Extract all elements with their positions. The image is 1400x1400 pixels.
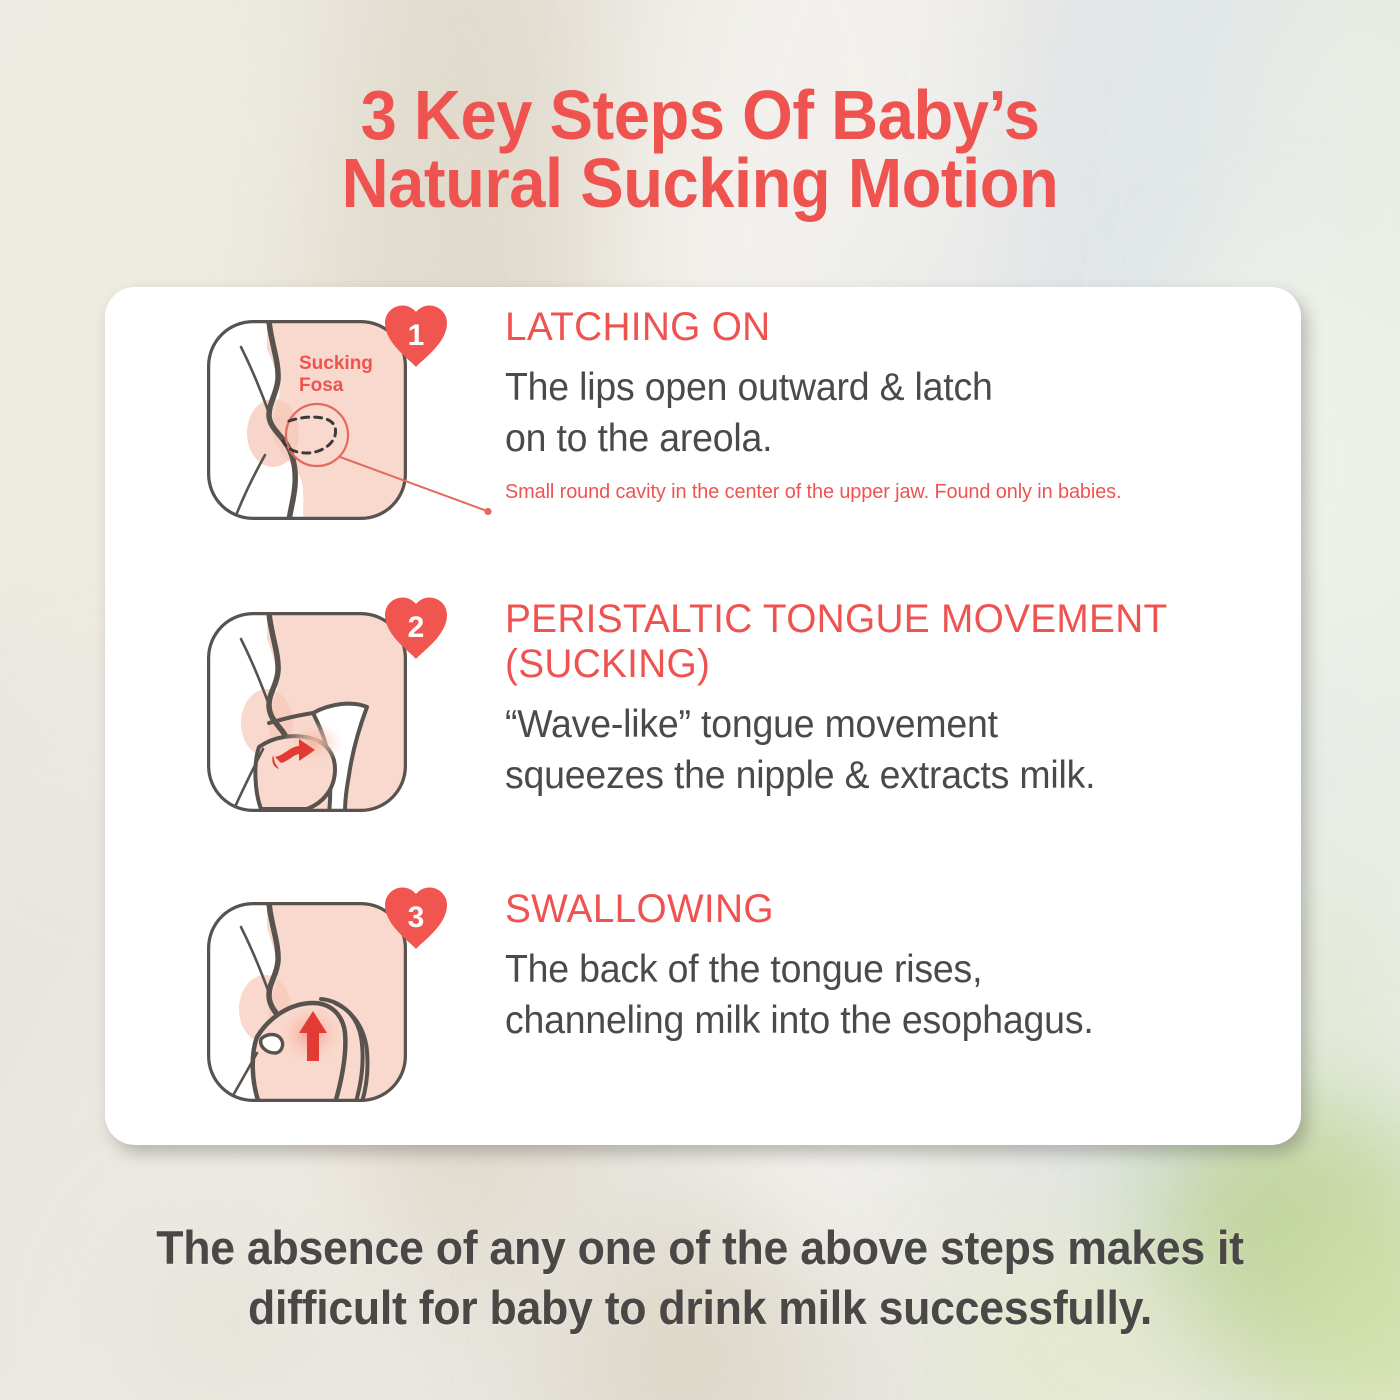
step-item: 2 PERISTALTIC TONGUE MOVEMENT (SUCKING) … xyxy=(105,597,1301,867)
step-body: The lips open outward & latch on to the … xyxy=(505,362,1231,465)
step-3-text: SWALLOWING The back of the tongue rises,… xyxy=(505,887,1261,1047)
step-badge-number-3: 3 xyxy=(408,901,425,934)
step-heading: PERISTALTIC TONGUE MOVEMENT (SUCKING) xyxy=(505,597,1238,687)
footer-line-1: The absence of any one of the above step… xyxy=(92,1218,1308,1278)
page-title-line-1: 3 Key Steps Of Baby’s xyxy=(49,82,1351,150)
step-heading: SWALLOWING xyxy=(505,887,1238,932)
step-body: The back of the tongue rises, channeling… xyxy=(505,944,1231,1047)
step-1-text: LATCHING ON The lips open outward & latc… xyxy=(505,305,1261,504)
step-badge-number-1: 1 xyxy=(408,319,425,352)
sucking-fosa-label-line-1: Sucking xyxy=(299,353,373,374)
step-item: 3 SWALLOWING The back of the tongue rise… xyxy=(105,887,1301,1147)
step-badge-number-2: 2 xyxy=(408,611,425,644)
step-1-illustration: Sucking Fosa 1 xyxy=(195,305,475,555)
page-title: 3 Key Steps Of Baby’s Natural Sucking Mo… xyxy=(49,82,1351,218)
step-body: “Wave-like” tongue movement squeezes the… xyxy=(505,699,1231,802)
page-title-line-2: Natural Sucking Motion xyxy=(49,150,1351,218)
step-2-text: PERISTALTIC TONGUE MOVEMENT (SUCKING) “W… xyxy=(505,597,1261,802)
step-note: Small round cavity in the center of the … xyxy=(505,480,1238,505)
step-2-illustration: 2 xyxy=(195,597,475,847)
step-item: Sucking Fosa 1 LATCHING ON The lips open… xyxy=(105,305,1301,575)
footer-note: The absence of any one of the above step… xyxy=(92,1218,1308,1338)
step-3-illustration: 3 xyxy=(195,887,475,1137)
step-heading: LATCHING ON xyxy=(505,305,1238,350)
steps-card: Sucking Fosa 1 LATCHING ON The lips open… xyxy=(105,287,1301,1145)
sucking-fosa-label-line-2: Fosa xyxy=(299,375,344,396)
footer-line-2: difficult for baby to drink milk success… xyxy=(92,1278,1308,1338)
